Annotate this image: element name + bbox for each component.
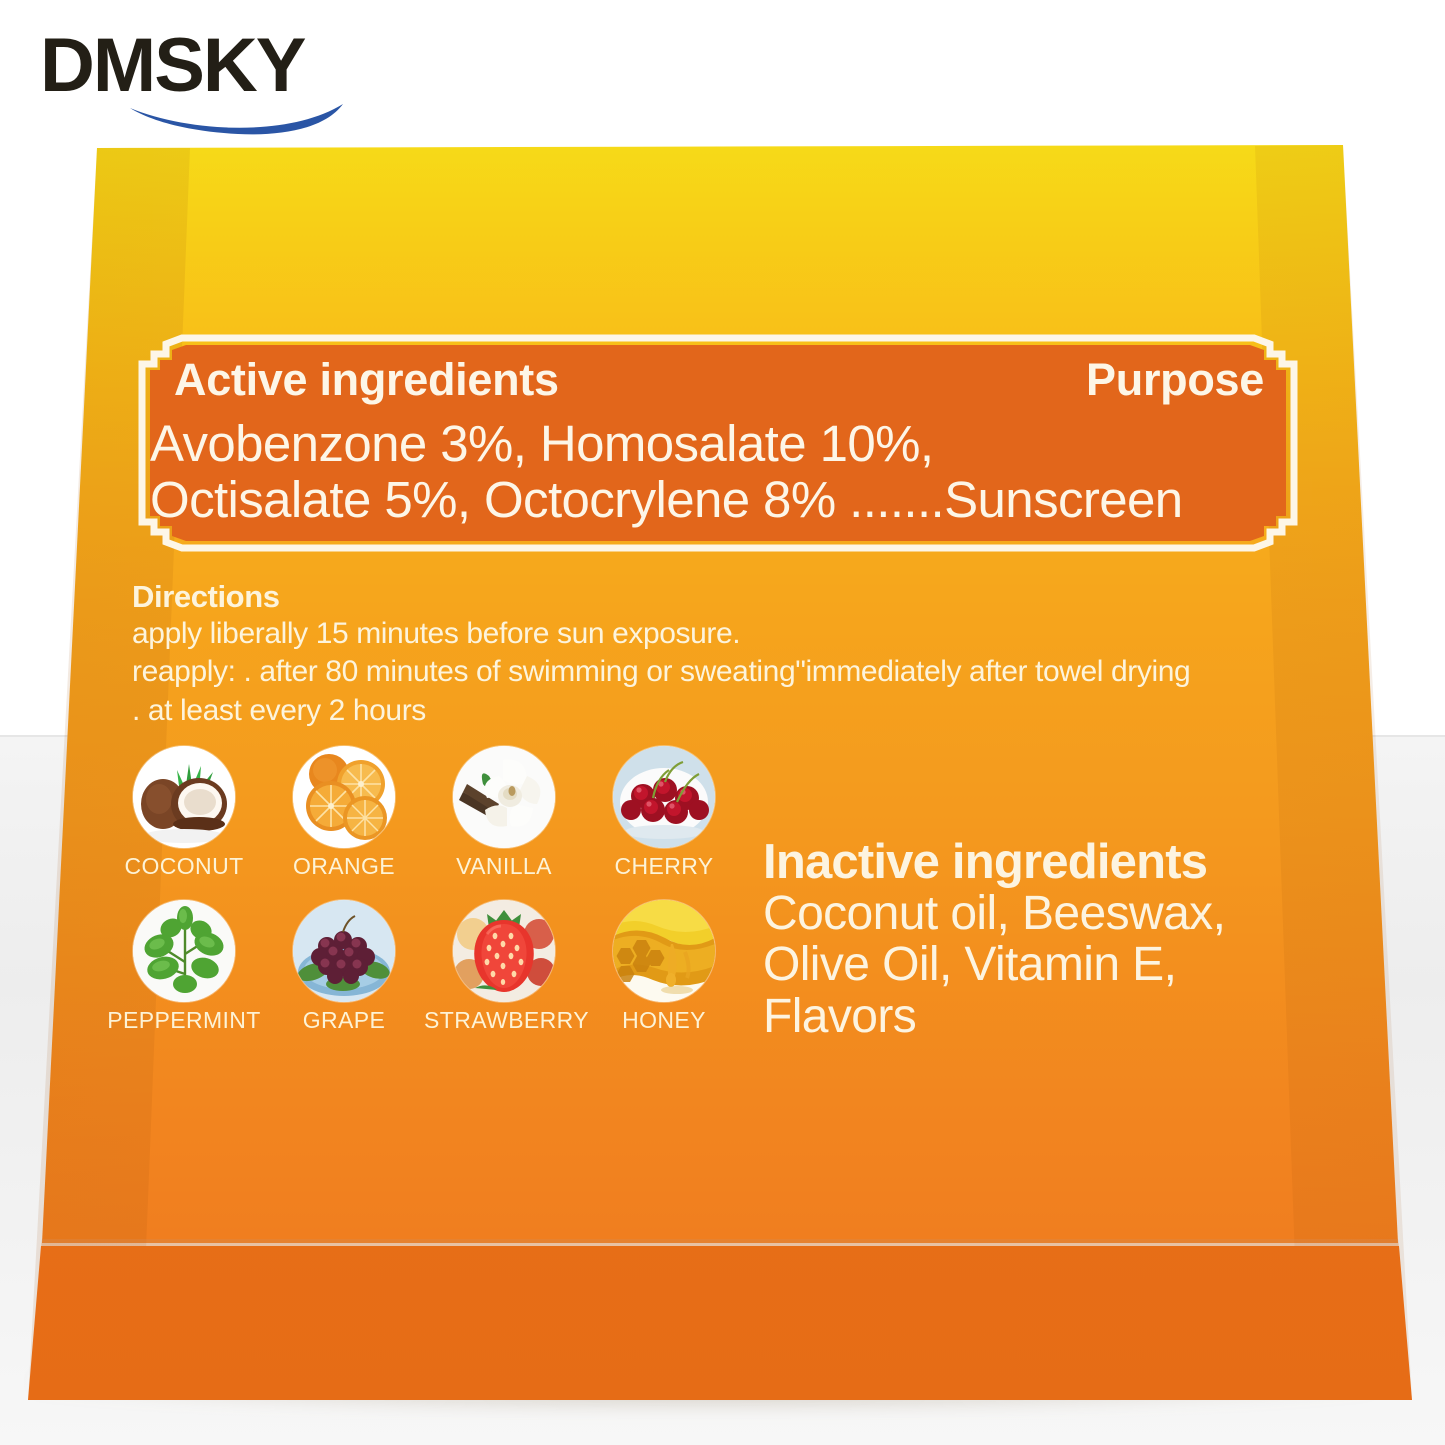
directions-line-3: . at least every 2 hours (132, 692, 1332, 730)
coconut-icon (133, 746, 235, 848)
flavor-row-1: COCONUT (104, 746, 764, 896)
active-ingredients-panel: Active ingredients Purpose Avobenzone 3%… (128, 328, 1308, 558)
directions-line-2: reapply: . after 80 minutes of swimming … (132, 653, 1332, 691)
flavor-label-coconut: COCONUT (104, 853, 264, 880)
flavor-item-honey: HONEY (584, 900, 744, 1034)
active-ingredients-heading: Active ingredients (174, 354, 559, 406)
inactive-ingredients-title: Inactive ingredients (763, 838, 1343, 888)
directions-section: Directions apply liberally 15 minutes be… (132, 580, 1332, 730)
inactive-ingredients-line-1: Coconut oil, Beeswax, (763, 888, 1343, 939)
flavor-item-orange: ORANGE (264, 746, 424, 880)
flavor-item-strawberry: STRAWBERRY (424, 900, 584, 1034)
grape-icon (293, 900, 395, 1002)
flavor-row-2: PEPPERMINT (104, 900, 764, 1050)
flavor-label-strawberry: STRAWBERRY (424, 1007, 584, 1034)
flavor-label-peppermint: PEPPERMINT (104, 1007, 264, 1034)
flavor-label-grape: GRAPE (264, 1007, 424, 1034)
active-panel-heading-row: Active ingredients Purpose (174, 354, 1264, 406)
directions-title: Directions (132, 580, 1332, 615)
flavor-item-grape: GRAPE (264, 900, 424, 1034)
directions-line-1: apply liberally 15 minutes before sun ex… (132, 615, 1332, 653)
flavor-label-honey: HONEY (584, 1007, 744, 1034)
flavor-item-coconut: COCONUT (104, 746, 264, 880)
flavor-label-cherry: CHERRY (584, 853, 744, 880)
active-ingredients-line-1: Avobenzone 3%, Homosalate 10%, (150, 414, 933, 473)
purpose-heading: Purpose (1086, 354, 1264, 406)
flavor-item-vanilla: VANILLA (424, 746, 584, 880)
flavor-label-orange: ORANGE (264, 853, 424, 880)
cherry-icon (613, 746, 715, 848)
inactive-ingredients-line-3: Flavors (763, 991, 1343, 1042)
active-ingredients-line-2: Octisalate 5%, Octocrylene 8% .......Sun… (150, 470, 1183, 529)
strawberry-icon (453, 900, 555, 1002)
peppermint-icon (133, 900, 235, 1002)
vanilla-icon (453, 746, 555, 848)
inactive-ingredients-line-2: Olive Oil, Vitamin E, (763, 939, 1343, 990)
flavor-label-vanilla: VANILLA (424, 853, 584, 880)
inactive-ingredients-section: Inactive ingredients Coconut oil, Beeswa… (763, 838, 1343, 1042)
flavor-item-cherry: CHERRY (584, 746, 744, 880)
orange-icon (293, 746, 395, 848)
flavor-grid: COCONUT (104, 746, 764, 1050)
flavor-item-peppermint: PEPPERMINT (104, 900, 264, 1034)
active-panel-content: Active ingredients Purpose Avobenzone 3%… (128, 328, 1308, 558)
honey-icon (613, 900, 715, 1002)
